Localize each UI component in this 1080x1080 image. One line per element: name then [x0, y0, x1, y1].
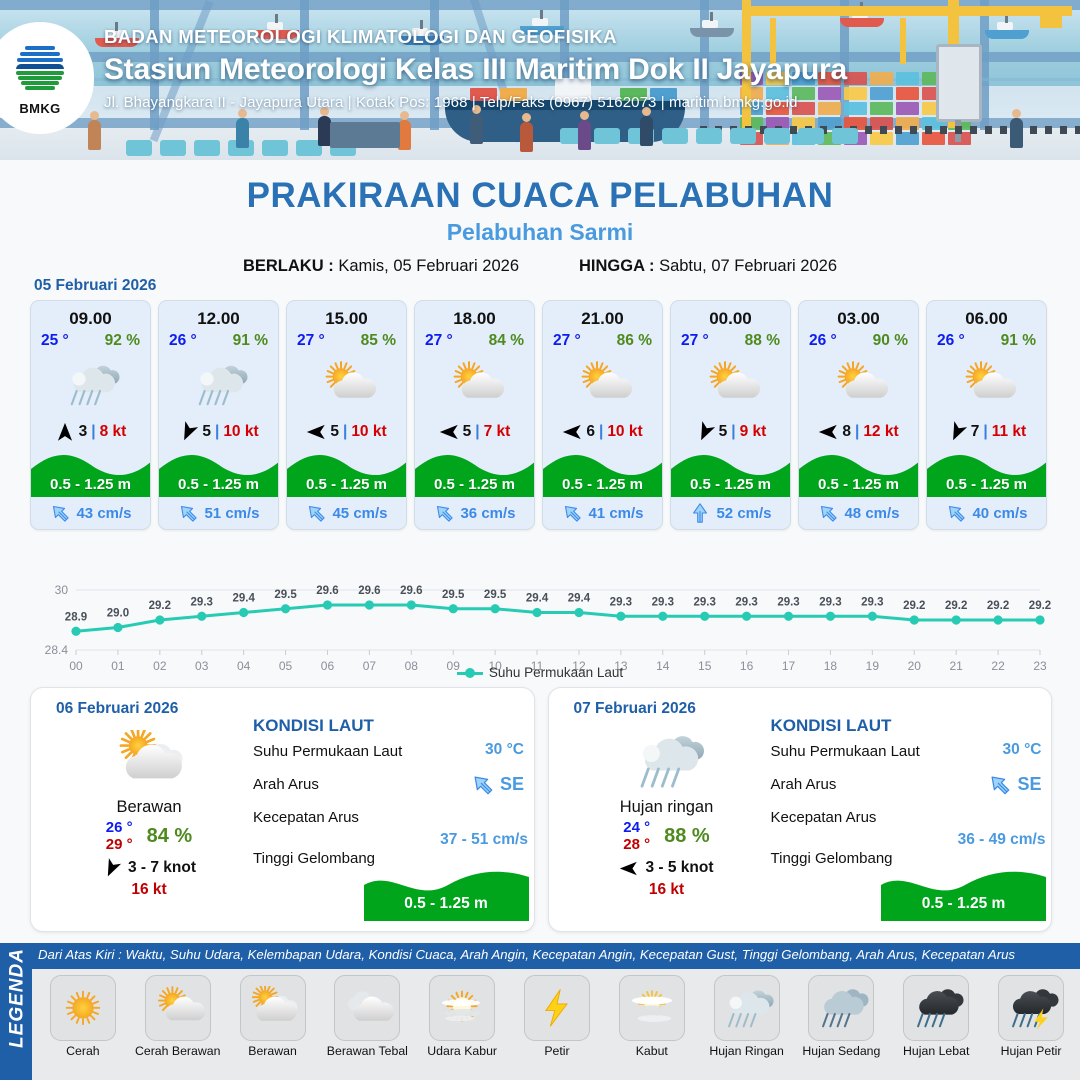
panel-weather-icon [49, 724, 249, 796]
legend-item-label: Hujan Sedang [795, 1044, 889, 1058]
card-weather-icon [543, 351, 662, 417]
panel-wind: 3 - 5 knot [567, 859, 767, 878]
svg-text:29.3: 29.3 [735, 596, 757, 608]
legend-item-label: Petir [510, 1044, 604, 1058]
card-wave-height: 0.5 - 1.25 m [543, 476, 662, 493]
card-temperature: 26 ° [809, 332, 837, 350]
legend-item: Berawan [226, 975, 320, 1058]
card-wind: 8 | 12 kt [799, 417, 918, 447]
card-wind-speed: 5 [463, 423, 472, 441]
legend-sidebar: LEGENDA [0, 943, 32, 1080]
card-wave-height: 0.5 - 1.25 m [31, 476, 150, 493]
legend-icon-petir [524, 975, 590, 1041]
wind-separator: | [731, 423, 735, 441]
card-wave: 0.5 - 1.25 m [159, 447, 278, 497]
wind-separator: | [983, 423, 987, 441]
card-wave: 0.5 - 1.25 m [31, 447, 150, 497]
card-temperature: 27 ° [681, 332, 709, 350]
card-current: 40 cm/s [927, 497, 1046, 529]
forecast-card[interactable]: 06.00 26 ° 91 % 7 | 11 kt 0.5 - 1.25 m 4… [926, 300, 1047, 530]
panel-wave-label: Tinggi Gelombang [771, 850, 893, 867]
legend-items: Cerah Cerah Berawan Berawan [32, 969, 1080, 1080]
svg-text:29.0: 29.0 [107, 608, 129, 620]
legend-item-label: Kabut [605, 1044, 699, 1058]
wind-separator: | [855, 423, 859, 441]
card-wind: 3 | 8 kt [31, 417, 150, 447]
panel-condition: Hujan ringan [567, 798, 767, 817]
card-weather-icon [671, 351, 790, 417]
card-humidity: 91 % [1001, 332, 1036, 350]
card-wind: 6 | 10 kt [543, 417, 662, 447]
panel-gust: 16 kt [567, 881, 767, 899]
card-gust: 7 kt [484, 423, 511, 441]
card-weather-icon [31, 351, 150, 417]
panel-current-speed-label: Kecepatan Arus [253, 809, 359, 826]
card-wave: 0.5 - 1.25 m [415, 447, 534, 497]
card-current: 52 cm/s [671, 497, 790, 529]
panel-wind: 3 - 7 knot [49, 859, 249, 878]
legend-icon-kabut [619, 975, 685, 1041]
card-gust: 10 kt [223, 423, 258, 441]
card-gust: 8 kt [100, 423, 127, 441]
panel-humidity: 84 % [147, 825, 193, 848]
card-time: 12.00 [159, 301, 278, 329]
card-time: 15.00 [287, 301, 406, 329]
daily-forecast-panels: 06 Februari 2026 Berawan 26 ° 29 ° 84 % … [30, 687, 1052, 932]
card-wave-height: 0.5 - 1.25 m [159, 476, 278, 493]
panel-sea-title: KONDISI LAUT [253, 716, 528, 736]
legend-item-label: Hujan Lebat [889, 1044, 983, 1058]
card-current: 51 cm/s [159, 497, 278, 529]
legend-icon-cerah-berawan [145, 975, 211, 1041]
card-humidity: 91 % [233, 332, 268, 350]
panel-current-speed-label: Kecepatan Arus [771, 809, 877, 826]
card-current-speed: 36 cm/s [460, 505, 515, 522]
card-wind-speed: 7 [971, 423, 980, 441]
legend-icon-cerah [50, 975, 116, 1041]
legend-icon-hujan-sedang [808, 975, 874, 1041]
card-gust: 10 kt [607, 423, 642, 441]
svg-text:29.3: 29.3 [610, 596, 632, 608]
svg-text:29.3: 29.3 [694, 596, 716, 608]
card-time: 00.00 [671, 301, 790, 329]
forecast-card[interactable]: 09.00 25 ° 92 % 3 | 8 kt 0.5 - 1.25 m [30, 300, 151, 530]
legend-icon-hujan-petir [998, 975, 1064, 1041]
current-direction-arrow-icon [49, 502, 71, 524]
card-gust: 10 kt [351, 423, 386, 441]
panel-sea-title: KONDISI LAUT [771, 716, 1046, 736]
card-current-speed: 52 cm/s [716, 505, 771, 522]
card-current-speed: 45 cm/s [332, 505, 387, 522]
svg-text:29.3: 29.3 [652, 596, 674, 608]
panel-current-dir-value: SE [987, 772, 1041, 797]
legend-item-label: Hujan Ringan [700, 1044, 794, 1058]
card-wind-speed: 6 [586, 423, 595, 441]
card-current: 41 cm/s [543, 497, 662, 529]
panel-sea-row: Arah Arus SE [771, 776, 1046, 809]
current-direction-arrow-icon [689, 502, 711, 524]
card-wind-speed: 5 [202, 423, 211, 441]
card-wind: 7 | 11 kt [927, 417, 1046, 447]
station-name: Stasiun Meteorologi Kelas III Maritim Do… [104, 53, 847, 87]
sst-chart: 3028.428.90029.00129.20229.30329.40429.5… [28, 560, 1052, 680]
card-temperature: 26 ° [169, 332, 197, 350]
validity-range: BERLAKU : Kamis, 05 Februari 2026 HINGGA… [0, 257, 1080, 276]
svg-text:29.4: 29.4 [232, 593, 255, 605]
svg-text:29.2: 29.2 [149, 600, 171, 612]
legend-item-label: Udara Kabur [415, 1044, 509, 1058]
current-direction-arrow-icon [817, 502, 839, 524]
forecast-card[interactable]: 12.00 26 ° 91 % 5 | 10 kt 0.5 - 1.25 m [158, 300, 279, 530]
legend-icon-berawan [240, 975, 306, 1041]
sst-chart-svg: 3028.428.90029.00129.20229.30329.40429.5… [28, 560, 1052, 680]
wind-direction-arrow-icon [306, 422, 326, 442]
panel-sea-row: Kecepatan Arus 37 - 51 cm/s [253, 809, 528, 842]
card-time: 09.00 [31, 301, 150, 329]
wind-direction-arrow-icon [178, 422, 198, 442]
card-time: 18.00 [415, 301, 534, 329]
panel-sst-label: Suhu Permukaan Laut [253, 743, 402, 760]
panel-wave-graphic: 0.5 - 1.25 m [881, 863, 1046, 921]
card-wave-height: 0.5 - 1.25 m [927, 476, 1046, 493]
chart-legend-label: Suhu Permukaan Laut [489, 665, 623, 680]
valid-from-label: BERLAKU : [243, 257, 334, 275]
wind-direction-arrow-icon [55, 422, 75, 442]
svg-text:30: 30 [55, 583, 69, 597]
page-title: PRAKIRAAN CUACA PELABUHAN [0, 176, 1080, 216]
legend-item-label: Cerah Berawan [131, 1044, 225, 1058]
panel-gust: 16 kt [49, 881, 249, 899]
legend-item: Kabut [605, 975, 699, 1058]
wind-direction-arrow-icon [102, 859, 121, 878]
svg-text:28.9: 28.9 [65, 611, 87, 623]
legend-note: Dari Atas Kiri : Waktu, Suhu Udara, Kele… [38, 947, 1078, 962]
card-current-speed: 43 cm/s [76, 505, 131, 522]
wind-separator: | [599, 423, 603, 441]
chart-legend-marker [457, 672, 483, 675]
forecast-day-label: 05 Februari 2026 [34, 277, 156, 295]
card-humidity: 88 % [745, 332, 780, 350]
svg-text:29.4: 29.4 [526, 593, 549, 605]
card-temperature: 27 ° [553, 332, 581, 350]
panel-wave-label: Tinggi Gelombang [253, 850, 375, 867]
legend-item: Hujan Ringan [700, 975, 794, 1058]
station-address: Jl. Bhayangkara II - Jayapura Utara | Ko… [104, 94, 847, 111]
legend-item-label: Berawan [226, 1044, 320, 1058]
wind-direction-arrow-icon [695, 422, 715, 442]
panel-wind-speed: 3 - 5 knot [645, 859, 713, 877]
panel-sea-row: Arah Arus SE [253, 776, 528, 809]
legend-strip: LEGENDA Dari Atas Kiri : Waktu, Suhu Uda… [0, 943, 1080, 1080]
svg-text:29.5: 29.5 [274, 589, 297, 601]
legend-item: Cerah [36, 975, 130, 1058]
panel-current-speed-value: 36 - 49 cm/s [958, 831, 1046, 849]
card-time: 21.00 [543, 301, 662, 329]
card-humidity: 90 % [873, 332, 908, 350]
legend-item: Petir [510, 975, 604, 1058]
card-gust: 12 kt [863, 423, 898, 441]
daily-forecast-panel[interactable]: 07 Februari 2026 Hujan ringan 24 ° 28 ° … [548, 687, 1053, 932]
card-wave: 0.5 - 1.25 m [927, 447, 1046, 497]
svg-text:29.6: 29.6 [358, 585, 380, 597]
svg-text:29.3: 29.3 [191, 596, 213, 608]
panel-sst-value: 30 °C [1003, 741, 1042, 759]
panel-condition: Berawan [49, 798, 249, 817]
card-current: 36 cm/s [415, 497, 534, 529]
card-time: 06.00 [927, 301, 1046, 329]
current-direction-arrow-icon [470, 772, 495, 797]
page-title-block: PRAKIRAAN CUACA PELABUHAN Pelabuhan Sarm… [0, 160, 1080, 276]
forecast-card[interactable]: 18.00 27 ° 84 % 5 | 7 kt 0.5 - 1.25 m 36 [414, 300, 535, 530]
card-current: 43 cm/s [31, 497, 150, 529]
card-current-speed: 40 cm/s [972, 505, 1027, 522]
legend-item: Berawan Tebal [320, 975, 414, 1058]
svg-text:29.6: 29.6 [316, 585, 338, 597]
agency-name: BADAN METEOROLOGI KLIMATOLOGI DAN GEOFIS… [104, 26, 847, 48]
card-wave-height: 0.5 - 1.25 m [415, 476, 534, 493]
card-wind-speed: 5 [330, 423, 339, 441]
current-direction-arrow-icon [433, 502, 455, 524]
panel-sst-label: Suhu Permukaan Laut [771, 743, 920, 760]
legend-icon-udara-kabur [429, 975, 495, 1041]
panel-sea-row: Kecepatan Arus 36 - 49 cm/s [771, 809, 1046, 842]
svg-text:29.4: 29.4 [568, 593, 591, 605]
card-wave-height: 0.5 - 1.25 m [799, 476, 918, 493]
panel-temp-max: 29 ° [106, 837, 133, 854]
card-wave-height: 0.5 - 1.25 m [671, 476, 790, 493]
svg-text:29.3: 29.3 [777, 596, 799, 608]
panel-date: 07 Februari 2026 [574, 700, 696, 718]
card-temperature: 27 ° [297, 332, 325, 350]
panel-wave-height: 0.5 - 1.25 m [881, 895, 1046, 913]
current-direction-arrow-icon [945, 502, 967, 524]
panel-current-speed-value: 37 - 51 cm/s [440, 831, 528, 849]
panel-wave-height: 0.5 - 1.25 m [364, 895, 529, 913]
legend-item-label: Cerah [36, 1044, 130, 1058]
daily-forecast-panel[interactable]: 06 Februari 2026 Berawan 26 ° 29 ° 84 % … [30, 687, 535, 932]
panel-date: 06 Februari 2026 [56, 700, 178, 718]
panel-temp-min: 26 ° [106, 820, 133, 837]
card-weather-icon [287, 351, 406, 417]
svg-text:29.3: 29.3 [861, 596, 883, 608]
card-current: 45 cm/s [287, 497, 406, 529]
forecast-card[interactable]: 21.00 27 ° 86 % 6 | 10 kt 0.5 - 1.25 m 4… [542, 300, 663, 530]
card-wave-height: 0.5 - 1.25 m [287, 476, 406, 493]
card-weather-icon [799, 351, 918, 417]
legend-icon-berawan-tebal [334, 975, 400, 1041]
valid-until-value: Sabtu, 07 Februari 2026 [659, 257, 837, 275]
current-direction-arrow-icon [987, 772, 1012, 797]
card-wind: 5 | 9 kt [671, 417, 790, 447]
forecast-card[interactable]: 00.00 27 ° 88 % 5 | 9 kt 0.5 - 1.25 m 52 [670, 300, 791, 530]
panel-temp-min: 24 ° [623, 820, 650, 837]
legend-item: Cerah Berawan [131, 975, 225, 1058]
panel-weather-icon [567, 724, 767, 796]
wind-direction-arrow-icon [947, 422, 967, 442]
wind-direction-arrow-icon [562, 422, 582, 442]
panel-wave-graphic: 0.5 - 1.25 m [364, 863, 529, 921]
valid-until-label: HINGGA : [579, 257, 654, 275]
card-weather-icon [927, 351, 1046, 417]
legend-icon-hujan-ringan [714, 975, 780, 1041]
hourly-forecast-row: 09.00 25 ° 92 % 3 | 8 kt 0.5 - 1.25 m [30, 300, 1052, 530]
card-temperature: 27 ° [425, 332, 453, 350]
panel-current-dir-label: Arah Arus [771, 776, 837, 793]
wind-direction-arrow-icon [439, 422, 459, 442]
legend-item-label: Hujan Petir [984, 1044, 1078, 1058]
wind-direction-arrow-icon [619, 859, 638, 878]
card-humidity: 86 % [617, 332, 652, 350]
legend-item-label: Berawan Tebal [320, 1044, 414, 1058]
card-temperature: 25 ° [41, 332, 69, 350]
panel-humidity: 88 % [664, 825, 710, 848]
current-direction-arrow-icon [177, 502, 199, 524]
card-humidity: 84 % [489, 332, 524, 350]
card-current-speed: 51 cm/s [204, 505, 259, 522]
panel-temp-max: 28 ° [623, 837, 650, 854]
bmkg-logo-symbol [10, 40, 70, 100]
card-wind: 5 | 10 kt [287, 417, 406, 447]
card-time: 03.00 [799, 301, 918, 329]
card-current-speed: 41 cm/s [588, 505, 643, 522]
card-wave: 0.5 - 1.25 m [543, 447, 662, 497]
card-current-speed: 48 cm/s [844, 505, 899, 522]
svg-text:29.2: 29.2 [987, 600, 1009, 612]
bmkg-logo-text: BMKG [7, 101, 73, 116]
card-weather-icon [415, 351, 534, 417]
forecast-card[interactable]: 15.00 27 ° 85 % 5 | 10 kt 0.5 - 1.25 m 4… [286, 300, 407, 530]
card-humidity: 85 % [361, 332, 396, 350]
panel-current-dir-value: SE [470, 772, 524, 797]
legend-icon-hujan-lebat [903, 975, 969, 1041]
port-name: Pelabuhan Sarmi [0, 219, 1080, 246]
card-humidity: 92 % [105, 332, 140, 350]
panel-sst-value: 30 °C [485, 741, 524, 759]
card-gust: 9 kt [740, 423, 767, 441]
card-wave: 0.5 - 1.25 m [287, 447, 406, 497]
svg-text:29.3: 29.3 [819, 596, 841, 608]
card-wind-speed: 5 [719, 423, 728, 441]
legend-item: Udara Kabur [415, 975, 509, 1058]
current-direction-arrow-icon [305, 502, 327, 524]
wind-separator: | [91, 423, 95, 441]
wind-separator: | [475, 423, 479, 441]
panel-current-dir-label: Arah Arus [253, 776, 319, 793]
svg-text:29.2: 29.2 [945, 600, 967, 612]
card-wind-speed: 8 [842, 423, 851, 441]
forecast-card[interactable]: 03.00 26 ° 90 % 8 | 12 kt 0.5 - 1.25 m 4… [798, 300, 919, 530]
legend-item: Hujan Lebat [889, 975, 983, 1058]
valid-from-value: Kamis, 05 Februari 2026 [338, 257, 519, 275]
svg-text:29.2: 29.2 [1029, 600, 1051, 612]
svg-text:28.4: 28.4 [45, 643, 69, 657]
legend-item: Hujan Sedang [795, 975, 889, 1058]
svg-text:29.6: 29.6 [400, 585, 422, 597]
wind-separator: | [215, 423, 219, 441]
header-banner: BMKG BADAN METEOROLOGI KLIMATOLOGI DAN G… [0, 0, 1080, 160]
card-wave: 0.5 - 1.25 m [671, 447, 790, 497]
svg-text:29.2: 29.2 [903, 600, 925, 612]
card-wind: 5 | 10 kt [159, 417, 278, 447]
svg-text:29.5: 29.5 [484, 589, 507, 601]
wind-separator: | [343, 423, 347, 441]
svg-text:29.5: 29.5 [442, 589, 465, 601]
card-weather-icon [159, 351, 278, 417]
chart-legend: Suhu Permukaan Laut [0, 665, 1080, 680]
card-temperature: 26 ° [937, 332, 965, 350]
wind-direction-arrow-icon [818, 422, 838, 442]
card-gust: 11 kt [992, 423, 1026, 441]
card-wind-speed: 3 [79, 423, 88, 441]
legend-item: Hujan Petir [984, 975, 1078, 1058]
card-wave: 0.5 - 1.25 m [799, 447, 918, 497]
current-direction-arrow-icon [561, 502, 583, 524]
legend-vertical-title: LEGENDA [7, 946, 29, 1051]
panel-wind-speed: 3 - 7 knot [128, 859, 196, 877]
card-wind: 5 | 7 kt [415, 417, 534, 447]
card-current: 48 cm/s [799, 497, 918, 529]
